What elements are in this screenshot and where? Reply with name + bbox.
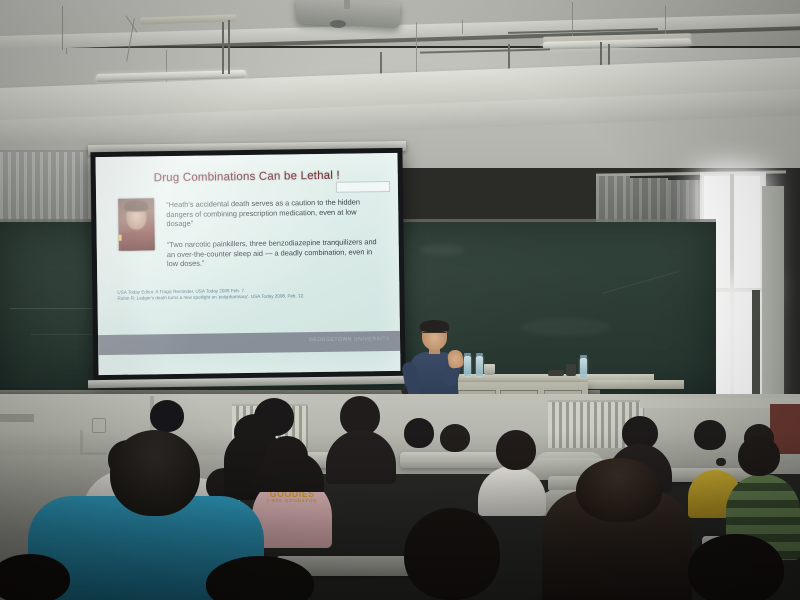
student-head [688,534,784,600]
desk [400,452,510,468]
hanging-wire [66,48,67,54]
window-post [752,290,760,410]
portrait-tab [119,235,122,241]
student-head [150,400,184,432]
student-head [496,430,536,470]
slide-portrait-image [118,198,155,250]
pipe [80,430,83,454]
student-head [576,458,662,522]
cup[interactable] [484,364,495,375]
lecture-hall-photo: Drug Combinations Can be Lethal ! “Heath… [0,0,800,600]
student-head [404,418,434,448]
curtain-left[interactable] [0,152,96,224]
slide-quote-first: “Heath’s accidental death serves as a ca… [166,197,384,229]
presenter-hand [447,349,464,369]
window-reveal [762,186,784,396]
light-rod [222,22,224,74]
hanging-wire [416,22,417,78]
wall-outlet[interactable] [92,418,106,433]
wall-ledge [0,414,34,422]
slide-watermark: GEORGETOWN UNIVERSITY [309,336,390,343]
shirt-print-line-bottom: 1-800-GOOD4YOU [253,499,331,504]
slide-quote-second: “Two narcotic painkillers, three benzodi… [167,237,377,269]
portrait-torso [121,231,153,250]
hanging-wire [462,20,463,34]
chalk-smudge [420,244,464,256]
chalk-line [601,271,678,294]
light-rod [228,20,230,74]
projector-lens [330,20,346,28]
presentation-slide: Drug Combinations Can be Lethal ! “Heath… [95,153,400,375]
student-head [694,420,726,450]
water-bottle[interactable] [580,358,587,378]
desk-object[interactable] [566,364,576,376]
slide-references: USA Today Editor. A Tragic Reminder. USA… [117,286,387,303]
window-pane-upper-right [734,176,760,288]
slide-artifact-box [336,181,390,193]
chalk-smudge [520,318,610,336]
student-head [738,436,780,476]
presenter-hair [420,320,449,332]
desk-object[interactable] [548,370,564,376]
wristwatch [716,458,726,466]
student-head [440,424,470,452]
student-head [404,508,500,600]
slide-footer-bar [98,331,400,355]
projection-screen: Drug Combinations Can be Lethal ! “Heath… [90,148,405,380]
pipe [80,452,106,455]
projector-mount [344,0,350,9]
bottle-cap [580,355,587,358]
front-counter-right [588,380,684,389]
student-head [110,430,200,516]
hanging-wire [62,6,63,50]
portrait-hair [124,200,148,211]
glasses-icon [423,332,446,337]
